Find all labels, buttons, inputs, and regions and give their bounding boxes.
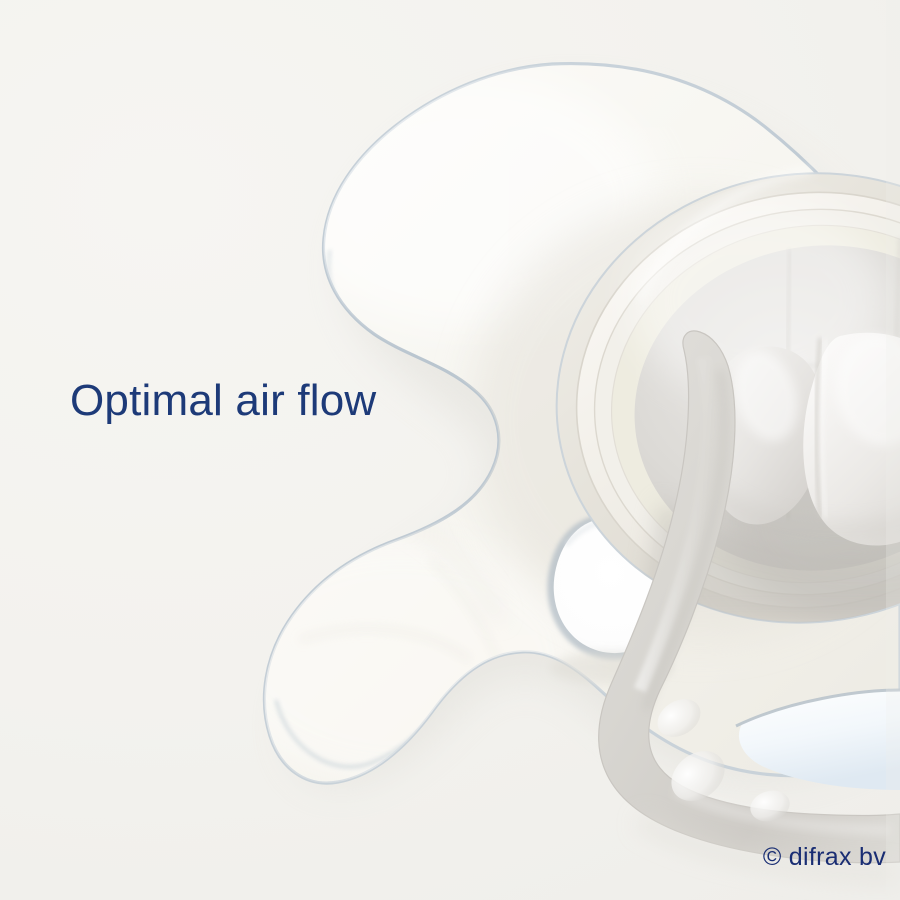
pacifier-illustration [0, 0, 900, 900]
copyright-notice: © difrax bv [763, 843, 886, 872]
page-title: Optimal air flow [70, 378, 376, 424]
image-canvas: Optimal air flow © difrax bv [0, 0, 900, 900]
